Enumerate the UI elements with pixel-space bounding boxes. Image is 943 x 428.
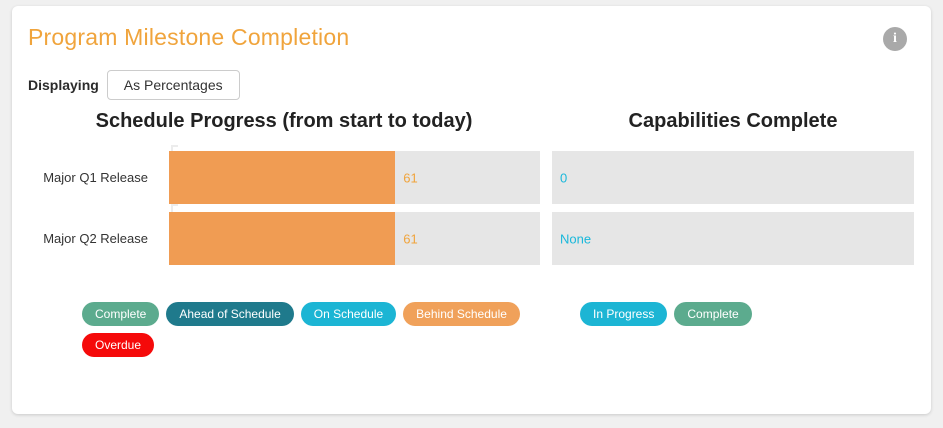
chart-title-schedule: Schedule Progress (from start to today) <box>28 110 540 133</box>
bar-track[interactable]: 0 <box>552 151 914 204</box>
bar-track[interactable]: 61 <box>169 151 540 204</box>
bar-row: 0 <box>552 151 914 204</box>
info-icon[interactable]: i <box>883 27 907 51</box>
legend-badge-on-schedule[interactable]: On Schedule <box>301 302 396 326</box>
bar-value-label: None <box>560 231 591 246</box>
bar-fill <box>169 151 395 204</box>
displaying-label: Displaying <box>28 77 99 93</box>
bar-row: Major Q1 Release 61 <box>28 151 540 204</box>
bar-fill <box>169 212 395 265</box>
bar-row: Major Q2 Release 61 <box>28 212 540 265</box>
legend-badge-complete[interactable]: Complete <box>674 302 751 326</box>
bar-value-label: 0 <box>560 170 567 185</box>
chart-title-capabilities: Capabilities Complete <box>552 110 914 133</box>
axis-tick <box>171 145 178 147</box>
displaying-select[interactable]: As Percentages <box>107 70 240 100</box>
bar-value-label: 61 <box>403 231 417 246</box>
bar-category-label: Major Q1 Release <box>28 151 158 204</box>
bar-row: None <box>552 212 914 265</box>
displaying-control: Displaying As Percentages <box>28 70 240 100</box>
program-milestone-card: Program Milestone Completion i Displayin… <box>12 6 931 414</box>
legend-badge-behind-schedule[interactable]: Behind Schedule <box>403 302 520 326</box>
legend-badge-complete[interactable]: Complete <box>82 302 159 326</box>
plot-schedule: Major Q1 Release 61 Major Q2 Release 61 <box>28 151 540 265</box>
legend-capabilities: In ProgressComplete <box>580 302 910 326</box>
legend-badge-in-progress[interactable]: In Progress <box>580 302 667 326</box>
legend-badge-ahead-of-schedule[interactable]: Ahead of Schedule <box>166 302 293 326</box>
chart-schedule-progress: Schedule Progress (from start to today) … <box>28 110 540 273</box>
page-title: Program Milestone Completion <box>28 24 349 51</box>
bar-track[interactable]: None <box>552 212 914 265</box>
bar-category-label: Major Q2 Release <box>28 212 158 265</box>
chart-capabilities-complete: Capabilities Complete 0 None <box>552 110 914 273</box>
bar-value-label: 61 <box>403 170 417 185</box>
legend-badge-overdue[interactable]: Overdue <box>82 333 154 357</box>
legend-schedule: CompleteAhead of ScheduleOn ScheduleBehi… <box>82 302 532 357</box>
bar-track[interactable]: 61 <box>169 212 540 265</box>
axis-tick <box>171 204 178 206</box>
plot-capabilities: 0 None <box>552 151 914 265</box>
